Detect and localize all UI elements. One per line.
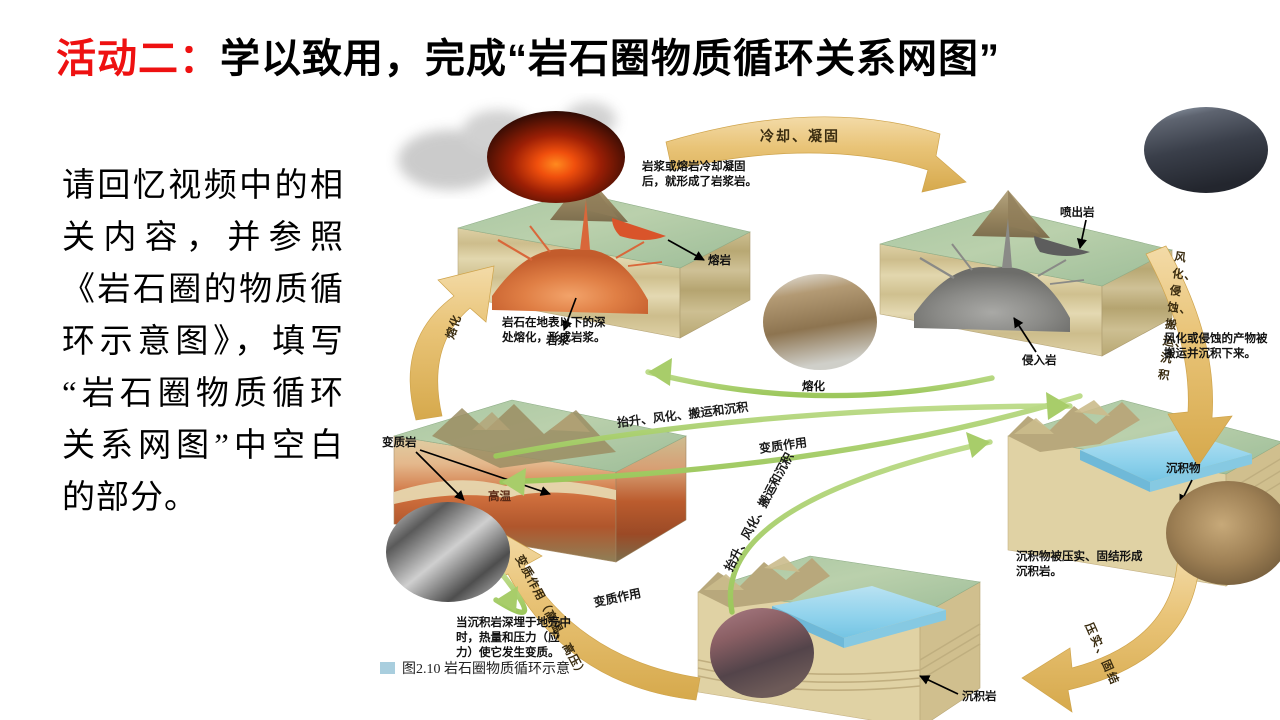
label-metamorphic-rock: 变质岩	[382, 434, 417, 450]
label-melting-photo: 熔化	[802, 378, 825, 394]
title-prefix: 活动二：	[56, 37, 220, 81]
rock-cycle-diagram: 熔岩 岩浆 喷出岩 侵入岩 变质岩 高温 沉积物 沉积岩 熔化 冷却、凝固 风化…	[380, 100, 1280, 700]
arrow-melting-yellow	[410, 266, 494, 420]
note-melting: 岩石在地表以下的深处熔化，形成岩浆。	[502, 316, 616, 346]
label-sediment: 沉积物	[1166, 460, 1201, 476]
label-lava: 熔岩	[708, 252, 731, 268]
caption-marker-icon	[380, 662, 395, 674]
label-intrusive-rock: 侵入岩	[1022, 352, 1057, 368]
sandstone-cliff-photo	[710, 608, 814, 698]
granite-mountain-photo	[763, 274, 877, 370]
arrow-label-cooling-solidification: 冷却、凝固	[760, 126, 840, 146]
volcano-eruption-photo	[487, 111, 625, 203]
gneiss-photo	[386, 502, 510, 602]
note-sedimentary: 沉积物被压实、固结形成沉积岩。	[1016, 550, 1144, 580]
label-extrusive-rock: 喷出岩	[1060, 204, 1095, 220]
diagram-svg	[380, 100, 1280, 700]
note-igneous: 岩浆或熔岩冷却凝固后，就形成了岩浆岩。	[642, 160, 758, 190]
igneous-block	[880, 190, 1172, 356]
title-rest: 学以致用，完成“岩石圈物质循环关系网图”	[220, 37, 1000, 81]
label-high-temperature: 高温	[488, 488, 511, 504]
caption-text: 图2.10 岩石圈物质循环示意	[402, 662, 570, 677]
magma-block	[458, 174, 750, 338]
figure-caption: 图2.10 岩石圈物质循环示意	[380, 658, 570, 678]
note-metamorphic: 当沉积岩深埋于地壳中时，热量和压力（应力）使它发生变质。	[456, 616, 574, 661]
page-title: 活动二：学以致用，完成“岩石圈物质循环关系网图”	[56, 26, 1000, 84]
slide-canvas: 活动二：学以致用，完成“岩石圈物质循环关系网图” 请回忆视频中的相关内容，并参照…	[0, 0, 1280, 720]
prompt-text: 请回忆视频中的相关内容，并参照《岩石圈的物质循环示意图》，填写“岩石圈物质循环关…	[62, 160, 344, 524]
label-sedimentary-rock: 沉积岩	[962, 688, 997, 704]
note-sediment: 风化或侵蚀的产物被搬运并沉积下来。	[1164, 332, 1274, 362]
basalt-lava-photo	[1144, 107, 1268, 193]
